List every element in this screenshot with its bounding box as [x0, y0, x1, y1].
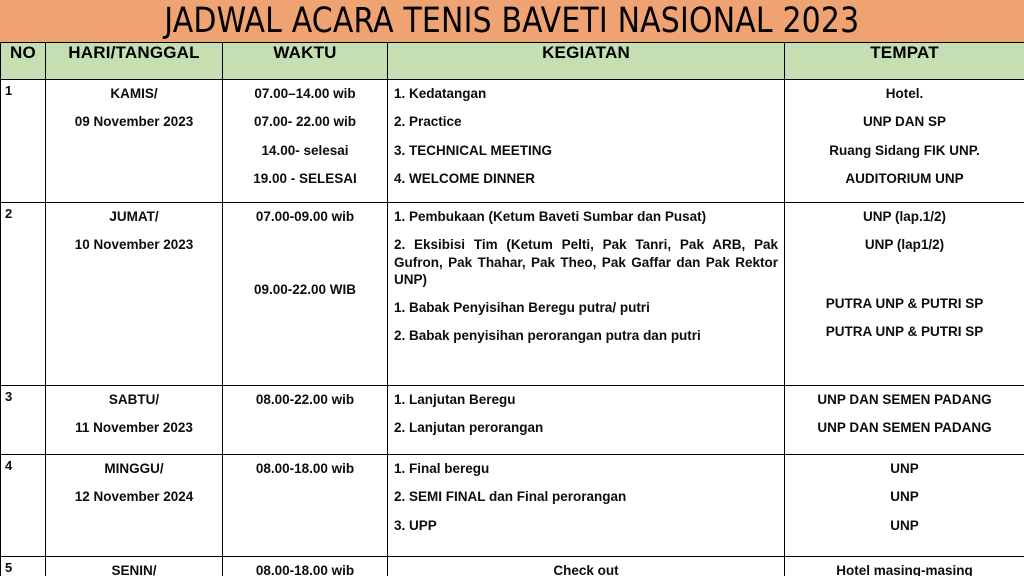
- table-row: 2 JUMAT/ 10 November 2023 07.00-09.00 wi…: [1, 203, 1024, 386]
- row-day-date: SENIN/ 13 November 2024: [46, 557, 223, 576]
- row-places: UNP UNP UNP: [785, 455, 1024, 557]
- row-times: 08.00-18.00 wib: [223, 455, 388, 557]
- day-date: 12 November 2024: [50, 488, 218, 505]
- row-day-date: MINGGU/ 12 November 2024: [46, 455, 223, 557]
- place-entry: Ruang Sidang FIK UNP.: [791, 142, 1018, 159]
- place-entry: PUTRA UNP & PUTRI SP: [791, 295, 1018, 312]
- row-number: 4: [1, 455, 46, 557]
- activity-entry: 2. SEMI FINAL dan Final perorangan: [394, 488, 778, 505]
- activity-entry: 4. WELCOME DINNER: [394, 170, 778, 187]
- row-day-date: KAMIS/ 09 November 2023: [46, 80, 223, 203]
- activity-entry: Check out: [394, 562, 778, 576]
- activity-entry: 3. UPP: [394, 517, 778, 534]
- column-header-hari-tanggal: HARI/TANGGAL: [46, 43, 223, 80]
- activity-entry: 2. Babak penyisihan perorangan putra dan…: [394, 327, 778, 344]
- time-entry: 08.00-22.00 wib: [229, 391, 381, 408]
- activity-entry: 1. Babak Penyisihan Beregu putra/ putri: [394, 299, 778, 316]
- activity-entry: 2. Practice: [394, 113, 778, 130]
- place-entry: Hotel.: [791, 85, 1018, 102]
- table-header: NO HARI/TANGGAL WAKTU KEGIATAN TEMPAT: [1, 43, 1024, 80]
- place-entry: Hotel masing-masing: [791, 562, 1018, 576]
- place-entry: UNP (lap.1/2): [791, 208, 1018, 225]
- row-number: 5: [1, 557, 46, 576]
- table-row: 4 MINGGU/ 12 November 2024 08.00-18.00 w…: [1, 455, 1024, 557]
- row-number: 2: [1, 203, 46, 386]
- time-entry: 08.00-18.00 wib: [229, 562, 381, 576]
- day-name: KAMIS/: [50, 85, 218, 102]
- row-places: Hotel masing-masing: [785, 557, 1024, 576]
- day-name: SABTU/: [50, 391, 218, 408]
- day-name: JUMAT/: [50, 208, 218, 225]
- schedule-table: NO HARI/TANGGAL WAKTU KEGIATAN TEMPAT 1 …: [0, 42, 1024, 576]
- table-row: 1 KAMIS/ 09 November 2023 07.00–14.00 wi…: [1, 80, 1024, 203]
- activity-entry: 1. Kedatangan: [394, 85, 778, 102]
- day-name: MINGGU/: [50, 460, 218, 477]
- column-header-tempat: TEMPAT: [785, 43, 1024, 80]
- title-banner: JADWAL ACARA TENIS BAVETI NASIONAL 2023: [0, 0, 1024, 42]
- column-header-kegiatan: KEGIATAN: [388, 43, 785, 80]
- time-entry: 08.00-18.00 wib: [229, 460, 381, 477]
- table-body: 1 KAMIS/ 09 November 2023 07.00–14.00 wi…: [1, 80, 1024, 576]
- header-row: NO HARI/TANGGAL WAKTU KEGIATAN TEMPAT: [1, 43, 1024, 80]
- row-places: UNP DAN SEMEN PADANG UNP DAN SEMEN PADAN…: [785, 386, 1024, 455]
- row-activities: 1. Final beregu 2. SEMI FINAL dan Final …: [388, 455, 785, 557]
- column-header-no: NO: [1, 43, 46, 80]
- day-date: 10 November 2023: [50, 236, 218, 253]
- day-date: 11 November 2023: [50, 419, 218, 436]
- row-activities: 1. Lanjutan Beregu 2. Lanjutan peroranga…: [388, 386, 785, 455]
- row-number: 3: [1, 386, 46, 455]
- column-header-waktu: WAKTU: [223, 43, 388, 80]
- place-entry: AUDITORIUM UNP: [791, 170, 1018, 187]
- row-times: 08.00-18.00 wib: [223, 557, 388, 576]
- row-activities: 1. Pembukaan (Ketum Baveti Sumbar dan Pu…: [388, 203, 785, 386]
- time-entry: 07.00–14.00 wib: [229, 85, 381, 102]
- time-entry: 07.00-09.00 wib: [229, 208, 381, 225]
- table-row: 5 SENIN/ 13 November 2024 08.00-18.00 wi…: [1, 557, 1024, 576]
- day-name: SENIN/: [50, 562, 218, 576]
- activity-entry: 3. TECHNICAL MEETING: [394, 142, 778, 159]
- time-entry: 19.00 - SELESAI: [229, 170, 381, 187]
- schedule-page: JADWAL ACARA TENIS BAVETI NASIONAL 2023 …: [0, 0, 1024, 576]
- table-row: 3 SABTU/ 11 November 2023 08.00-22.00 wi…: [1, 386, 1024, 455]
- row-times: 07.00-09.00 wib 09.00-22.00 WIB: [223, 203, 388, 386]
- activity-entry: 1. Pembukaan (Ketum Baveti Sumbar dan Pu…: [394, 208, 778, 225]
- place-entry: UNP: [791, 517, 1018, 534]
- time-entry: 14.00- selesai: [229, 142, 381, 159]
- place-entry: UNP (lap1/2): [791, 236, 1018, 253]
- place-entry: UNP: [791, 460, 1018, 477]
- day-date: 09 November 2023: [50, 113, 218, 130]
- activity-entry: 1. Final beregu: [394, 460, 778, 477]
- place-entry: UNP DAN SP: [791, 113, 1018, 130]
- row-times: 07.00–14.00 wib 07.00- 22.00 wib 14.00- …: [223, 80, 388, 203]
- place-entry: PUTRA UNP & PUTRI SP: [791, 323, 1018, 340]
- row-day-date: SABTU/ 11 November 2023: [46, 386, 223, 455]
- activity-entry: 1. Lanjutan Beregu: [394, 391, 778, 408]
- place-entry: UNP: [791, 488, 1018, 505]
- row-activities: Check out: [388, 557, 785, 576]
- row-times: 08.00-22.00 wib: [223, 386, 388, 455]
- row-day-date: JUMAT/ 10 November 2023: [46, 203, 223, 386]
- row-activities: 1. Kedatangan 2. Practice 3. TECHNICAL M…: [388, 80, 785, 203]
- place-entry: UNP DAN SEMEN PADANG: [791, 391, 1018, 408]
- time-entry: 09.00-22.00 WIB: [229, 281, 381, 298]
- place-entry: UNP DAN SEMEN PADANG: [791, 419, 1018, 436]
- activity-entry: 2. Lanjutan perorangan: [394, 419, 778, 436]
- page-title: JADWAL ACARA TENIS BAVETI NASIONAL 2023: [164, 0, 859, 42]
- row-number: 1: [1, 80, 46, 203]
- row-places: UNP (lap.1/2) UNP (lap1/2) PUTRA UNP & P…: [785, 203, 1024, 386]
- time-entry: 07.00- 22.00 wib: [229, 113, 381, 130]
- activity-entry: 2. Eksibisi Tim (Ketum Pelti, Pak Tanri,…: [394, 236, 778, 288]
- row-places: Hotel. UNP DAN SP Ruang Sidang FIK UNP. …: [785, 80, 1024, 203]
